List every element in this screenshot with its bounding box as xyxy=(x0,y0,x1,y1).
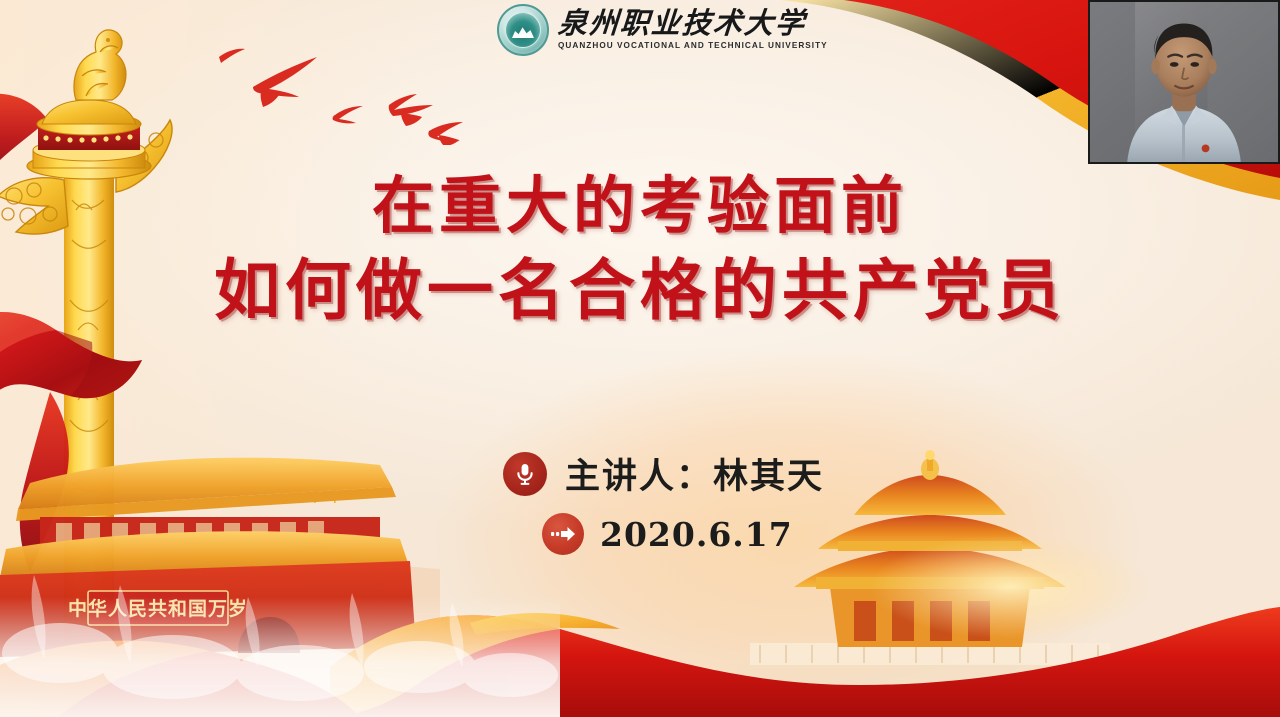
university-emblem-icon xyxy=(497,4,549,56)
speaker-label: 主讲人：林其天 xyxy=(565,448,824,499)
university-name-en: QUANZHOU VOCATIONAL AND TECHNICAL UNIVER… xyxy=(558,42,828,50)
slide-meta: 主讲人：林其天 2020.6.17 xyxy=(0,448,1280,555)
arrow-right-icon xyxy=(542,513,584,555)
flying-birds xyxy=(215,35,545,145)
presenter-video-feed[interactable] xyxy=(1088,0,1280,164)
presentation-slide: 泉州职业技术大学 QUANZHOU VOCATIONAL AND TECHNIC… xyxy=(0,0,1280,717)
date-label: 2020.6.17 xyxy=(600,515,793,554)
microphone-icon xyxy=(503,452,547,496)
university-logo: 泉州职业技术大学 QUANZHOU VOCATIONAL AND TECHNIC… xyxy=(497,4,828,56)
university-name-block: 泉州职业技术大学 QUANZHOU VOCATIONAL AND TECHNIC… xyxy=(558,9,828,50)
university-name-cn: 泉州职业技术大学 xyxy=(557,9,829,38)
speaker-row: 主讲人：林其天 xyxy=(0,448,1280,499)
date-row: 2020.6.17 xyxy=(0,513,1280,555)
